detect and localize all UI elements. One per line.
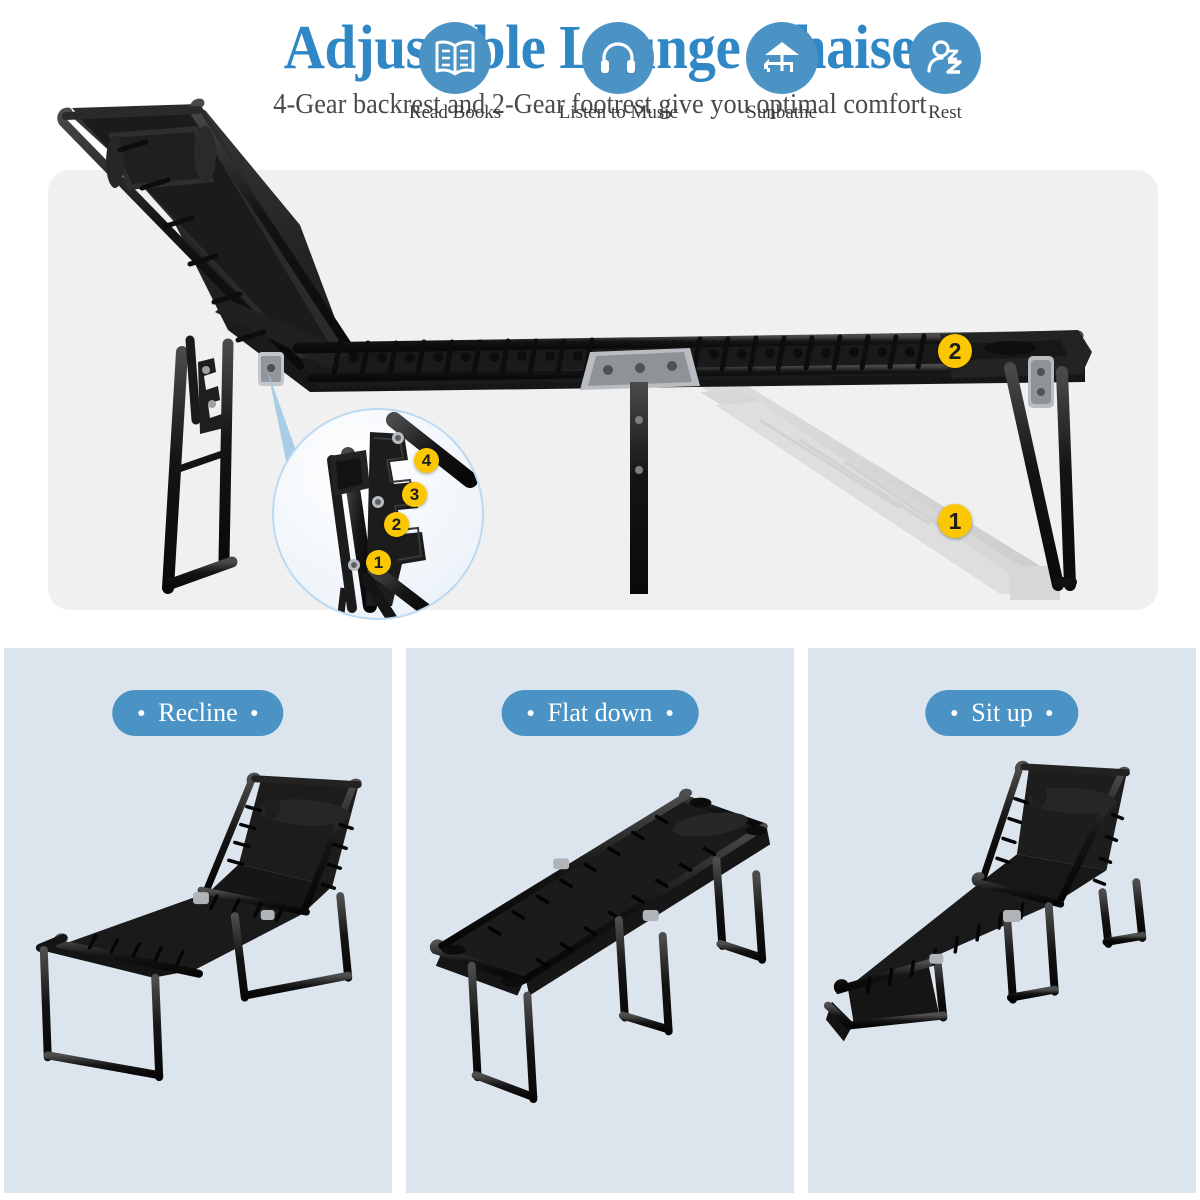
footrest-badge-2: 2: [938, 334, 972, 368]
open-book-icon: [419, 22, 491, 94]
footrest-badge-1: 1: [938, 504, 972, 538]
gear-badge-1: 1: [366, 550, 391, 575]
position-panels: Recline: [4, 648, 1196, 1193]
feature-icon-row: Read Books Listen to Music Sunbathe: [380, 22, 1020, 124]
bullet-dot-right: [666, 710, 672, 716]
bullet-dot-left: [951, 710, 957, 716]
feature-listen-to-music: Listen to Music: [543, 22, 693, 124]
panel-label-flat-down: Flat down: [502, 690, 699, 736]
gear-badge-2: 2: [384, 512, 409, 537]
panel-label-sit-up: Sit up: [925, 690, 1078, 736]
panel-recline: Recline: [4, 648, 392, 1193]
sleeping-person-icon: [909, 22, 981, 94]
panel-sit-up: Sit up: [808, 648, 1196, 1193]
feature-label: Read Books: [380, 102, 530, 124]
gear-badge-3: 3: [402, 482, 427, 507]
bullet-dot-left: [528, 710, 534, 716]
hero-panel: [48, 170, 1158, 610]
bullet-dot-right: [252, 710, 258, 716]
feature-label: Listen to Music: [543, 102, 693, 124]
gear-badge-4: 4: [414, 448, 439, 473]
panel-flat-down: Flat down: [406, 648, 794, 1193]
parasol-lounger-icon: [746, 22, 818, 94]
feature-rest: Rest: [870, 22, 1020, 124]
feature-label: Rest: [870, 102, 1020, 124]
headphones-icon: [582, 22, 654, 94]
bullet-dot-right: [1047, 710, 1053, 716]
feature-label: Sunbathe: [707, 102, 857, 124]
panel-label-text: Sit up: [971, 698, 1032, 728]
backrest-gear-zoom-detail: 4 3 2 1: [272, 408, 484, 620]
feature-sunbathe: Sunbathe: [707, 22, 857, 124]
feature-read-books: Read Books: [380, 22, 530, 124]
panel-label-recline: Recline: [112, 690, 283, 736]
panel-label-text: Flat down: [548, 698, 653, 728]
bullet-dot-left: [138, 710, 144, 716]
panel-label-text: Recline: [158, 698, 237, 728]
